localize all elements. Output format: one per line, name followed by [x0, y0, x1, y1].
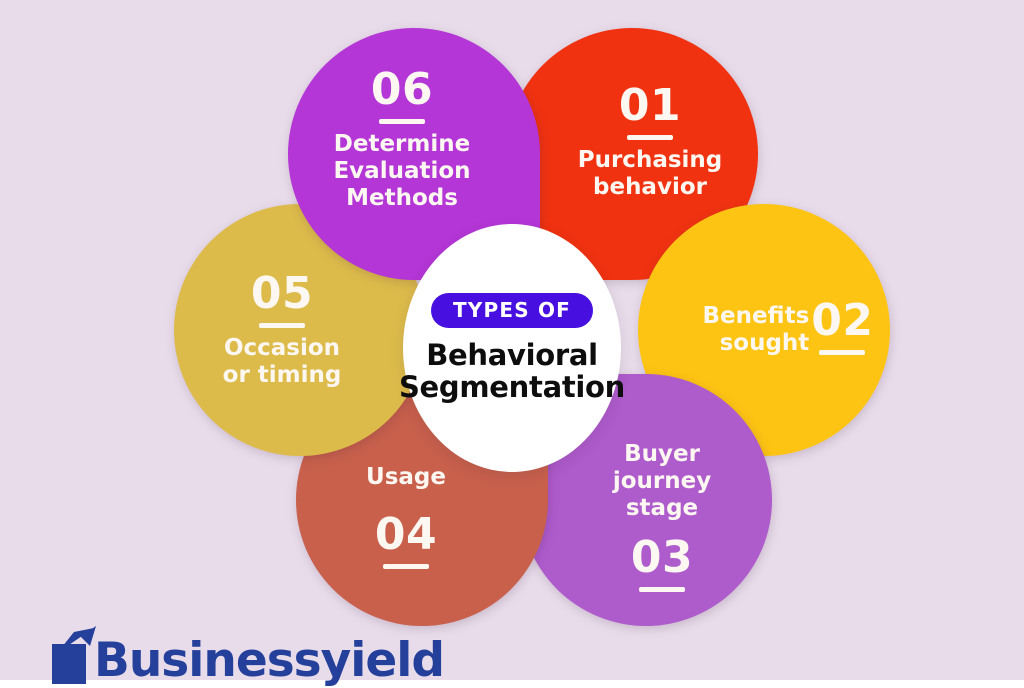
center-title-line1: Behavioral	[399, 339, 625, 371]
petal-02-label-line1: Benefits	[702, 303, 809, 330]
petal-04-label-line1: Usage	[366, 464, 446, 491]
petal-02-content: Benefits sought 02	[702, 299, 873, 362]
petal-05-divider	[259, 323, 305, 328]
petal-05-number: 05	[251, 272, 313, 316]
petal-02-label-line2: sought	[702, 330, 809, 357]
petal-06-divider	[379, 119, 425, 124]
center-title: Behavioral Segmentation	[399, 339, 625, 404]
center-disc: TYPES OF Behavioral Segmentation	[403, 224, 621, 472]
petal-05-label-line1: Occasion	[223, 335, 342, 362]
petal-05-content: 05 Occasion or timing	[223, 272, 342, 388]
petal-01-content: 01 Purchasing behavior	[578, 84, 723, 200]
petal-06-label-line2: Evaluation	[333, 158, 470, 185]
businessyield-arrow-icon	[44, 622, 100, 684]
petal-03-number: 03	[631, 536, 693, 580]
petal-04-content: Usage 04	[366, 464, 446, 576]
petal-03-divider	[639, 587, 685, 592]
petal-06-label-line3: Methods	[333, 185, 470, 212]
petal-02-label: Benefits sought	[702, 303, 809, 356]
petal-03-label: Buyer journey stage	[613, 441, 711, 521]
center-title-line2: Segmentation	[399, 371, 625, 403]
petal-01-label: Purchasing behavior	[578, 147, 723, 200]
brand-logo-group[interactable]: Businessyield	[44, 622, 444, 684]
brand-wordmark: Businessyield	[94, 637, 444, 684]
petal-04-number: 04	[375, 513, 437, 557]
petal-06-content: 06 Determine Evaluation Methods	[333, 68, 470, 211]
petal-02-divider	[819, 350, 865, 355]
petal-01-label-line1: Purchasing	[578, 147, 723, 174]
infographic-canvas: 01 Purchasing behavior Benefits sought 0…	[0, 0, 1024, 680]
petal-06-label-line1: Determine	[333, 131, 470, 158]
center-badge: TYPES OF	[431, 293, 593, 328]
petal-05-label-line2: or timing	[223, 362, 342, 389]
petal-01-divider	[627, 135, 673, 140]
petal-02-number: 02	[811, 299, 873, 343]
petal-03-label-line1: Buyer	[613, 441, 711, 468]
petal-03-label-line2: journey	[613, 468, 711, 495]
petal-01-number: 01	[619, 84, 681, 128]
petal-04-divider	[383, 564, 429, 569]
petal-03-content: Buyer journey stage 03	[613, 441, 711, 598]
petal-02-number-group: 02	[811, 299, 873, 362]
petal-06-label: Determine Evaluation Methods	[333, 131, 470, 211]
petal-06-number: 06	[371, 68, 433, 112]
petal-01-label-line2: behavior	[578, 174, 723, 201]
petal-04-label: Usage	[366, 464, 446, 491]
petal-05-label: Occasion or timing	[223, 335, 342, 388]
petal-03-label-line3: stage	[613, 495, 711, 522]
flower-diagram: 01 Purchasing behavior Benefits sought 0…	[168, 22, 858, 642]
